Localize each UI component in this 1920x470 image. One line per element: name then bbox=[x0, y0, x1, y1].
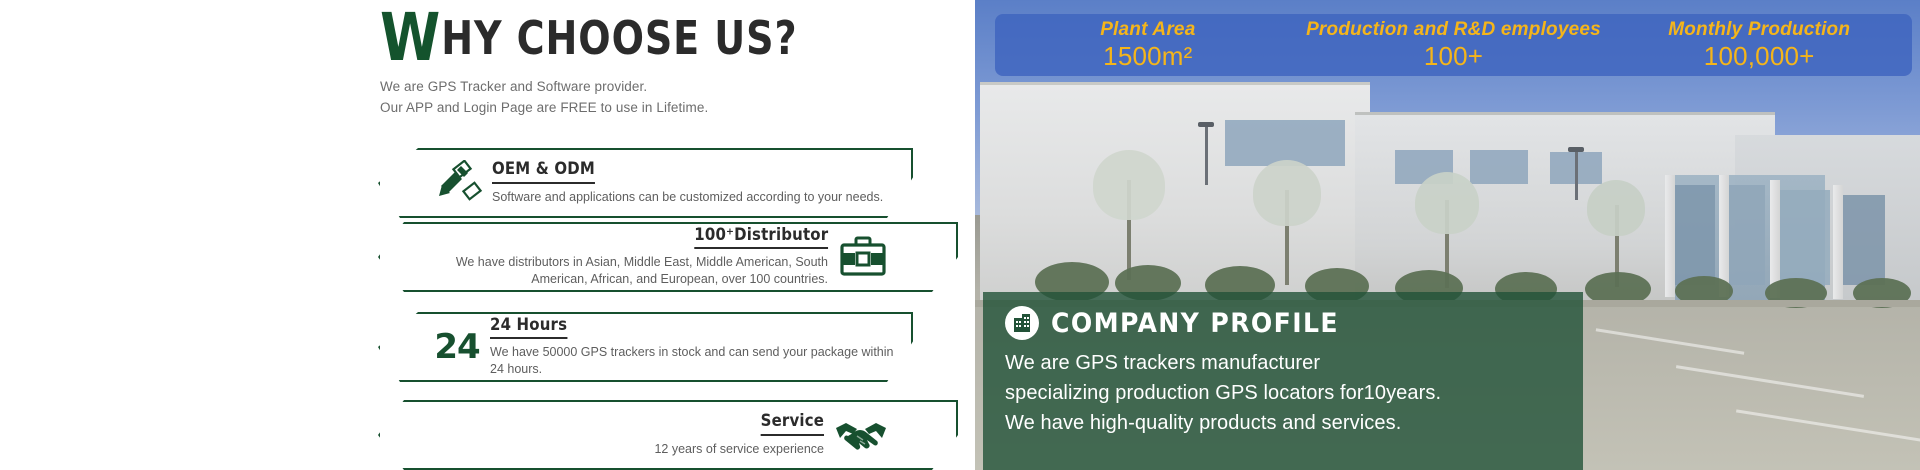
lamp-post bbox=[1205, 125, 1208, 185]
title-drop-cap: W bbox=[380, 0, 441, 76]
why-choose-us-banner: WHY CHOOSE US? We are GPS Tracker and So… bbox=[0, 0, 1920, 470]
card-text: OEM & ODM Software and applications can … bbox=[492, 160, 899, 205]
company-profile-line-1: We are GPS trackers manufacturer bbox=[1005, 348, 1565, 378]
tree-canopy bbox=[1253, 160, 1321, 226]
badge-number: 24 bbox=[434, 327, 479, 367]
card-title: OEM & ODM bbox=[492, 160, 595, 184]
company-profile-overlay: COMPANY PROFILE We are GPS trackers manu… bbox=[983, 292, 1583, 470]
stat-value: 1500m² bbox=[999, 42, 1297, 71]
card-title: Service bbox=[761, 412, 824, 436]
subtitle: We are GPS Tracker and Software provider… bbox=[380, 77, 940, 119]
card-description: 12 years of service experience bbox=[404, 441, 824, 458]
stat-monthly-production: Monthly Production 100,000+ bbox=[1606, 19, 1912, 71]
building-icon bbox=[1005, 306, 1039, 340]
handshake-icon bbox=[824, 414, 898, 456]
feature-card-oem-odm[interactable]: OEM & ODM Software and applications can … bbox=[378, 148, 913, 218]
company-profile-line-2: specializing production GPS locators for… bbox=[1005, 378, 1565, 408]
feature-card-distributor[interactable]: 100⁺Distributor We have distributors in … bbox=[378, 222, 958, 292]
card-title: 100⁺Distributor bbox=[694, 226, 828, 250]
entry-pillar bbox=[1665, 175, 1675, 297]
card-text: 24 Hours We have 50000 GPS trackers in s… bbox=[490, 316, 899, 378]
pencil-ruler-icon bbox=[430, 160, 492, 206]
card-description: We have distributors in Asian, Middle Ea… bbox=[404, 254, 828, 288]
number-badge-icon: 24 bbox=[424, 327, 490, 367]
card-text: 100⁺Distributor We have distributors in … bbox=[404, 226, 828, 288]
factory-photo-panel: Plant Area 1500m² Production and R&D emp… bbox=[975, 0, 1920, 470]
left-panel: WHY CHOOSE US? We are GPS Tracker and So… bbox=[0, 0, 975, 470]
lamp-head bbox=[1198, 122, 1214, 127]
subtitle-line-1: We are GPS Tracker and Software provider… bbox=[380, 77, 940, 98]
company-profile-header: COMPANY PROFILE bbox=[1005, 306, 1565, 340]
page-title: WHY CHOOSE US? bbox=[380, 12, 895, 65]
stat-label: Monthly Production bbox=[1610, 19, 1908, 40]
briefcase-icon bbox=[828, 235, 898, 279]
stat-value: 100+ bbox=[1305, 42, 1603, 71]
stat-label: Production and R&D employees bbox=[1305, 19, 1603, 40]
subtitle-line-2: Our APP and Login Page are FREE to use i… bbox=[380, 98, 940, 119]
company-profile-line-3: We have high-quality products and servic… bbox=[1005, 408, 1565, 438]
window-strip bbox=[1470, 150, 1528, 184]
window-strip bbox=[1775, 190, 1830, 285]
feature-card-service[interactable]: Service 12 years of service experience bbox=[378, 400, 958, 470]
lamp-head bbox=[1568, 147, 1584, 152]
stat-label: Plant Area bbox=[999, 19, 1297, 40]
window-strip bbox=[1725, 185, 1765, 285]
card-text: Service 12 years of service experience bbox=[404, 412, 824, 457]
stat-value: 100,000+ bbox=[1610, 42, 1908, 71]
window-strip bbox=[1675, 185, 1715, 285]
heading-block: WHY CHOOSE US? We are GPS Tracker and So… bbox=[380, 12, 940, 119]
feature-card-24-hours[interactable]: 24 24 Hours We have 50000 GPS trackers i… bbox=[378, 312, 913, 382]
card-description: We have 50000 GPS trackers in stock and … bbox=[490, 344, 899, 378]
tree-canopy bbox=[1093, 150, 1165, 220]
tree-canopy bbox=[1415, 172, 1479, 234]
stat-plant-area: Plant Area 1500m² bbox=[995, 19, 1301, 71]
entry-pillar bbox=[1833, 185, 1843, 299]
lamp-post bbox=[1575, 150, 1578, 200]
title-rest: HY CHOOSE US? bbox=[441, 11, 797, 65]
tree-canopy bbox=[1587, 180, 1645, 236]
card-title: 24 Hours bbox=[490, 316, 567, 340]
company-profile-title: COMPANY PROFILE bbox=[1051, 308, 1339, 339]
stats-bar: Plant Area 1500m² Production and R&D emp… bbox=[995, 14, 1912, 76]
window-strip bbox=[1840, 195, 1885, 285]
card-description: Software and applications can be customi… bbox=[492, 189, 899, 206]
stat-employees: Production and R&D employees 100+ bbox=[1301, 19, 1607, 71]
